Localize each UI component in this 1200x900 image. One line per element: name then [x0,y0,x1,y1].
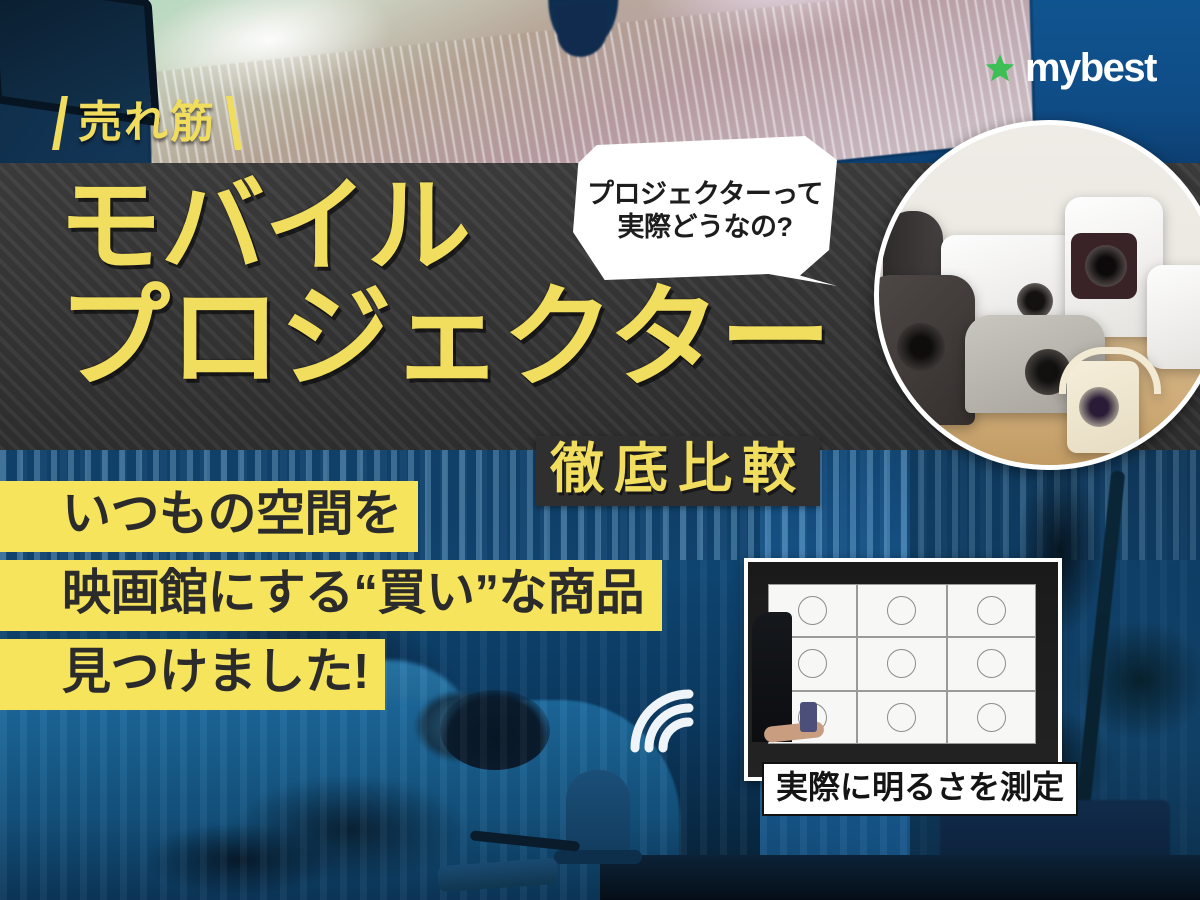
measurement-caption: 実際に明るさを測定 [762,762,1078,816]
speech-bubble: プロジェクターって 実際どうなの? [573,136,837,286]
grid-cell [947,637,1036,690]
circle-marker-icon [798,596,827,625]
projector-lineup-photo [874,120,1200,470]
measuring-person [752,612,792,742]
projector-white-right [1147,265,1200,369]
circle-marker-icon [977,649,1006,678]
slash-mark-icon [226,96,242,150]
bestseller-label: 売れ筋 [78,101,216,145]
circle-marker-icon [798,649,827,678]
circle-marker-icon [977,596,1006,625]
circle-marker-icon [887,703,916,732]
projected-image [147,0,1033,175]
grid-cell [857,584,946,637]
slash-mark-icon [52,96,68,150]
circle-marker-icon [887,649,916,678]
circle-marker-icon [887,596,916,625]
highlight-line-2: 映画館にする“買い”な商品 [0,560,662,631]
highlight-line-1: いつもの空間を [0,481,418,552]
bestseller-badge: 売れ筋 [52,96,242,150]
projector-cream [1067,361,1139,453]
lens-icon [1071,233,1137,299]
title-line-2: プロジェクター [58,284,831,392]
highlight-line-3: 見つけました! [0,639,385,710]
grid-cell [947,584,1036,637]
light-meter-device [800,702,817,732]
grid-cell [857,691,946,744]
mybest-logo-text: mybest [1025,48,1156,88]
speech-bubble-line-2: 実際どうなの? [618,211,793,244]
banner-canvas: 売れ筋 モバイル プロジェクター 徹底比較 いつもの空間を 映画館にする“買い”… [0,0,1200,900]
circle-marker-icon [977,703,1006,732]
lens-icon [1079,387,1119,427]
brightness-measurement-photo [744,558,1062,781]
highlight-copy: いつもの空間を 映画館にする“買い”な商品 見つけました! [0,481,662,710]
table-surface [600,855,1200,900]
mybest-logo: mybest [985,48,1156,88]
projector-dark-box [874,275,975,425]
grid-cell [947,691,1036,744]
grid-cell [857,637,946,690]
speech-bubble-line-1: プロジェクターって [587,178,823,211]
star-icon [985,53,1015,83]
